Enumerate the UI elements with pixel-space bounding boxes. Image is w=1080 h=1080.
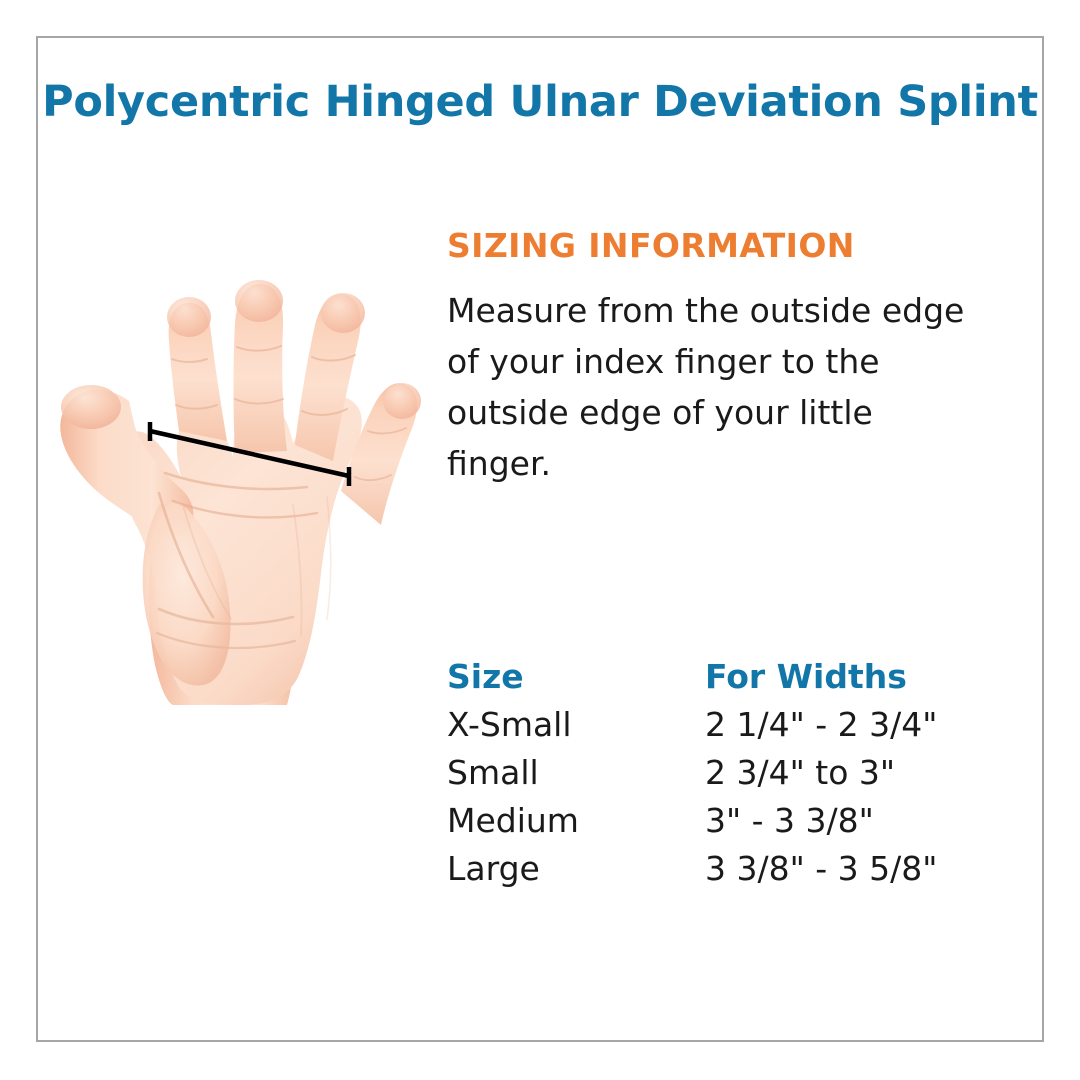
cell-size: Medium <box>447 797 705 845</box>
sizing-chart-page: Polycentric Hinged Ulnar Deviation Splin… <box>0 0 1080 1080</box>
column-header-for-widths: For Widths <box>705 653 977 701</box>
table-header-row: Size For Widths <box>447 653 977 701</box>
hand-diagram-svg <box>55 205 445 705</box>
index-fingertip <box>167 297 211 337</box>
cell-width: 2 3/4" to 3" <box>705 749 977 797</box>
cell-size: X-Small <box>447 701 705 749</box>
cell-size: Small <box>447 749 705 797</box>
sizing-information-heading: SIZING INFORMATION <box>447 226 855 265</box>
table-body: X-Small 2 1/4" - 2 3/4" Small 2 3/4" to … <box>447 701 977 893</box>
size-chart-table: Size For Widths X-Small 2 1/4" - 2 3/4" … <box>447 653 977 893</box>
table-row: Medium 3" - 3 3/8" <box>447 797 977 845</box>
cell-width: 2 1/4" - 2 3/4" <box>705 701 977 749</box>
sizing-instructions-text: Measure from the outside edge of your in… <box>447 285 972 489</box>
column-header-size: Size <box>447 653 705 701</box>
ring-fingertip <box>321 293 365 333</box>
middle-fingertip <box>235 280 283 322</box>
table-row: X-Small 2 1/4" - 2 3/4" <box>447 701 977 749</box>
little-fingertip <box>383 383 421 419</box>
page-title: Polycentric Hinged Ulnar Deviation Splin… <box>36 78 1044 127</box>
thumb-tip <box>61 385 121 429</box>
cell-width: 3" - 3 3/8" <box>705 797 977 845</box>
hand-illustration <box>55 205 445 705</box>
cell-width: 3 3/8" - 3 5/8" <box>705 845 977 893</box>
table-row: Large 3 3/8" - 3 5/8" <box>447 845 977 893</box>
cell-size: Large <box>447 845 705 893</box>
table-row: Small 2 3/4" to 3" <box>447 749 977 797</box>
